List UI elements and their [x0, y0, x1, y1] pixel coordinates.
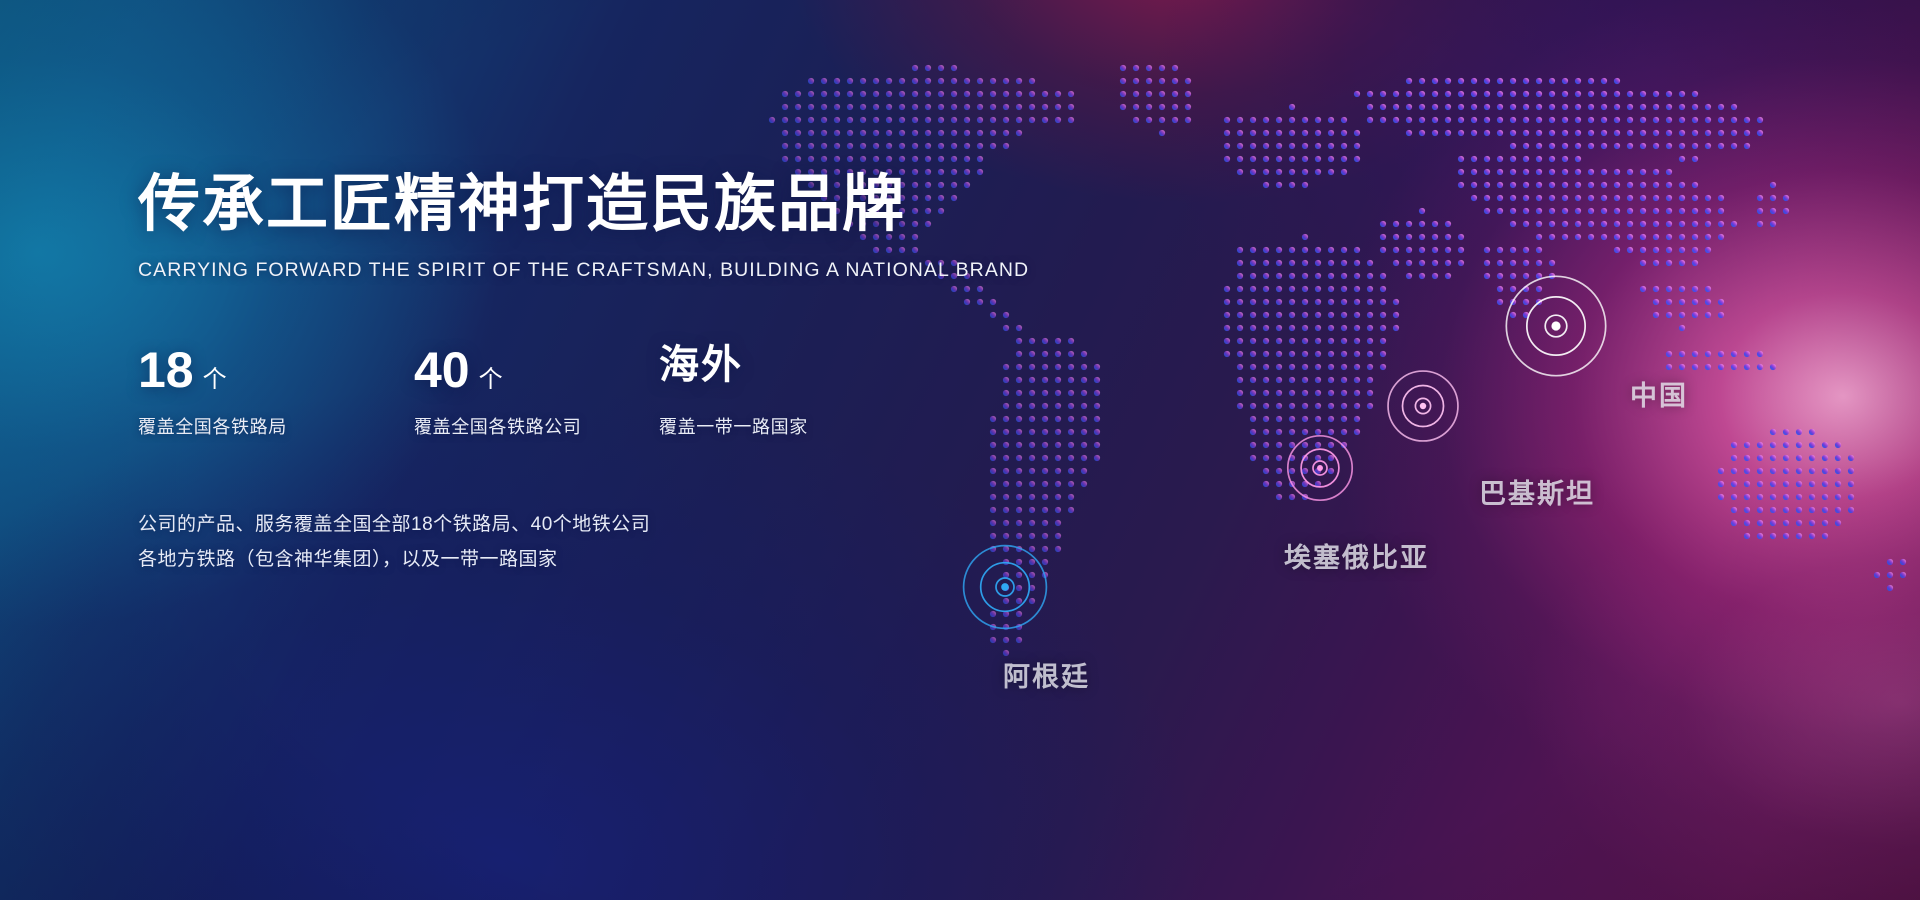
page-title: 传承工匠精神打造民族品牌: [138, 172, 1078, 237]
description-block: 公司的产品、服务覆盖全国全部18个铁路局、40个地铁公司 各地方铁路（包含神华集…: [138, 507, 1078, 577]
stat-value: 海外: [659, 345, 743, 385]
stat-value-group: 海外: [659, 345, 919, 399]
stat-item-railway-bureaus: 18 个 覆盖全国各铁路局: [138, 345, 414, 439]
stat-value-group: 18 个: [138, 345, 414, 399]
stat-item-railway-companies: 40 个 覆盖全国各铁路公司: [414, 345, 659, 439]
page-subtitle: CARRYING FORWARD THE SPIRIT OF THE CRAFT…: [138, 259, 1078, 282]
stat-unit: 个: [203, 368, 227, 392]
hero-content: 传承工匠精神打造民族品牌 CARRYING FORWARD THE SPIRIT…: [138, 172, 1078, 577]
stat-unit: 个: [479, 368, 503, 392]
stat-item-overseas: 海外 覆盖一带一路国家: [659, 345, 919, 439]
stat-caption: 覆盖全国各铁路公司: [414, 413, 659, 439]
stat-value: 40: [414, 345, 470, 395]
stat-caption: 覆盖一带一路国家: [659, 413, 919, 439]
banner-stage: 中国巴基斯坦埃塞俄比亚阿根廷 传承工匠精神打造民族品牌 CARRYING FOR…: [0, 0, 1920, 900]
stat-value-group: 40 个: [414, 345, 659, 399]
description-line-2: 各地方铁路（包含神华集团），以及一带一路国家: [138, 542, 1078, 577]
stats-row: 18 个 覆盖全国各铁路局 40 个 覆盖全国各铁路公司 海外 覆盖一带一路国家: [138, 345, 1078, 439]
stat-caption: 覆盖全国各铁路局: [138, 413, 414, 439]
stat-value: 18: [138, 345, 194, 395]
description-line-1: 公司的产品、服务覆盖全国全部18个铁路局、40个地铁公司: [138, 507, 1078, 542]
